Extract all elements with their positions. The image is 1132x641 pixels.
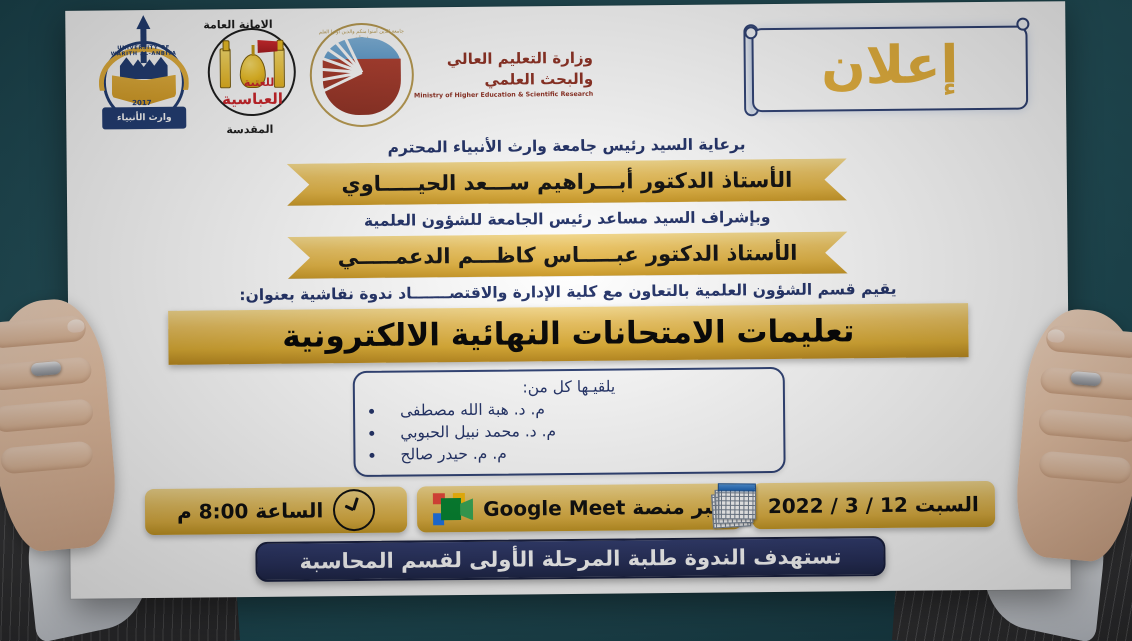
poster-body: برعاية السيد رئيس جامعة وارث الأنبياء ال… xyxy=(88,131,1048,584)
fingernail xyxy=(1047,329,1065,343)
announcement-scroll-badge: إعلان xyxy=(737,15,1038,122)
ministry-name-line2: والبحث العلمي xyxy=(414,69,593,91)
finger xyxy=(0,441,94,475)
gmeet-body-part xyxy=(441,498,461,520)
minaret-icon xyxy=(220,48,231,88)
calendar-binding xyxy=(718,484,756,492)
event-platform-pill: عبر منصة Google Meet xyxy=(417,484,742,533)
shrine-text-low: العباسية xyxy=(222,90,283,109)
announcement-label: إعلان xyxy=(821,39,959,98)
university-logo-ar-banner: وارث الأنبياء xyxy=(102,107,186,130)
logo-group: UNIVERSITY OF WARITH AL-ANBIYA 2017 وارث… xyxy=(87,17,595,134)
ministry-logo: جامعة الذين آمنوا منكم والذين أوتوا العل… xyxy=(309,19,595,130)
event-time-pill: الساعة 8:00 م xyxy=(145,487,407,536)
ministry-emblem-icon: جامعة الذين آمنوا منكم والذين أوتوا العل… xyxy=(309,22,414,127)
supervisor-name-ribbon: الأستاذ الدكتور عبـــــاس كاظـــم الدعمـ… xyxy=(287,232,847,279)
event-details-row: السبت 12 / 3 / 2022 عبر منصة Google Meet… xyxy=(92,481,1048,536)
shrine-text-mid: للعتبة xyxy=(244,76,275,89)
shrine-text-bottom: المقدسة xyxy=(226,123,273,136)
shrine-logo: الامانة العامة للعتبة العباسية المقدسة xyxy=(195,20,306,133)
speaker-name: م. د. محمد نبيل الحبوبي xyxy=(400,421,556,444)
university-logo: UNIVERSITY OF WARITH AL-ANBIYA 2017 وارث… xyxy=(95,23,192,132)
ministry-text-block: وزارة التعليم العالي والبحث العلمي Minis… xyxy=(414,48,596,99)
speakers-lead-label: يلقيـها كل من: xyxy=(369,376,769,398)
event-description: يقيم قسم الشؤون العلمية بالتعاون مع كلية… xyxy=(90,278,1046,307)
event-date-label: السبت 12 / 3 / 2022 xyxy=(768,492,979,518)
shrine-flag-icon xyxy=(257,40,277,53)
event-platform-label: عبر منصة Google Meet xyxy=(483,495,726,521)
shrine-text-top: الامانة العامة xyxy=(203,18,272,32)
finger xyxy=(1038,408,1132,443)
bullet-icon xyxy=(369,409,374,414)
poster-header: UNIVERSITY OF WARITH AL-ANBIYA 2017 وارث… xyxy=(87,9,1044,136)
patron-name-ribbon: الأستاذ الدكتور أبـــراهيم ســـعد الحيــ… xyxy=(287,158,847,205)
minaret-icon xyxy=(274,48,285,88)
seminar-title-bar: تعليمات الامتحانات النهائية الالكترونية xyxy=(168,304,968,366)
poster-scene: UNIVERSITY OF WARITH AL-ANBIYA 2017 وارث… xyxy=(0,0,1132,641)
speaker-name: م. م. حيدر صالح xyxy=(400,443,507,466)
ministry-name-english: Ministry of Higher Education & Scientifi… xyxy=(414,90,593,99)
announcement-box: إعلان xyxy=(751,26,1028,113)
poster-board: UNIVERSITY OF WARITH AL-ANBIYA 2017 وارث… xyxy=(65,1,1071,599)
google-meet-icon xyxy=(433,493,473,525)
finger xyxy=(0,398,94,433)
finger xyxy=(1038,451,1132,485)
ring-right-hand xyxy=(1070,371,1101,387)
scroll-knob-top-left xyxy=(744,26,757,39)
bullet-icon xyxy=(369,453,374,458)
speakers-list: م. د. هبة الله مصطفى م. د. محمد نبيل الح… xyxy=(369,396,770,466)
event-time-label: الساعة 8:00 م xyxy=(177,499,324,524)
speaker-name: م. د. هبة الله مصطفى xyxy=(400,399,545,422)
calendar-icon xyxy=(712,484,756,530)
speakers-box: يلقيـها كل من: م. د. هبة الله مصطفى م. د… xyxy=(353,367,786,477)
bullet-icon xyxy=(369,431,374,436)
university-founded-year: 2017 xyxy=(132,99,152,107)
scroll-knob-top-right xyxy=(1016,18,1029,31)
clock-icon xyxy=(333,489,375,531)
list-item: م. م. حيدر صالح xyxy=(369,440,769,466)
supervision-intro-line: وبإشراف السيد مساعد رئيس الجامعة للشؤون … xyxy=(89,205,1045,234)
event-date-pill: السبت 12 / 3 / 2022 xyxy=(752,481,995,529)
ministry-name-line1: وزارة التعليم العالي xyxy=(414,48,593,70)
audience-banner: تستهدف الندوة طلبة المرحلة الأولى لقسم ا… xyxy=(255,536,885,582)
